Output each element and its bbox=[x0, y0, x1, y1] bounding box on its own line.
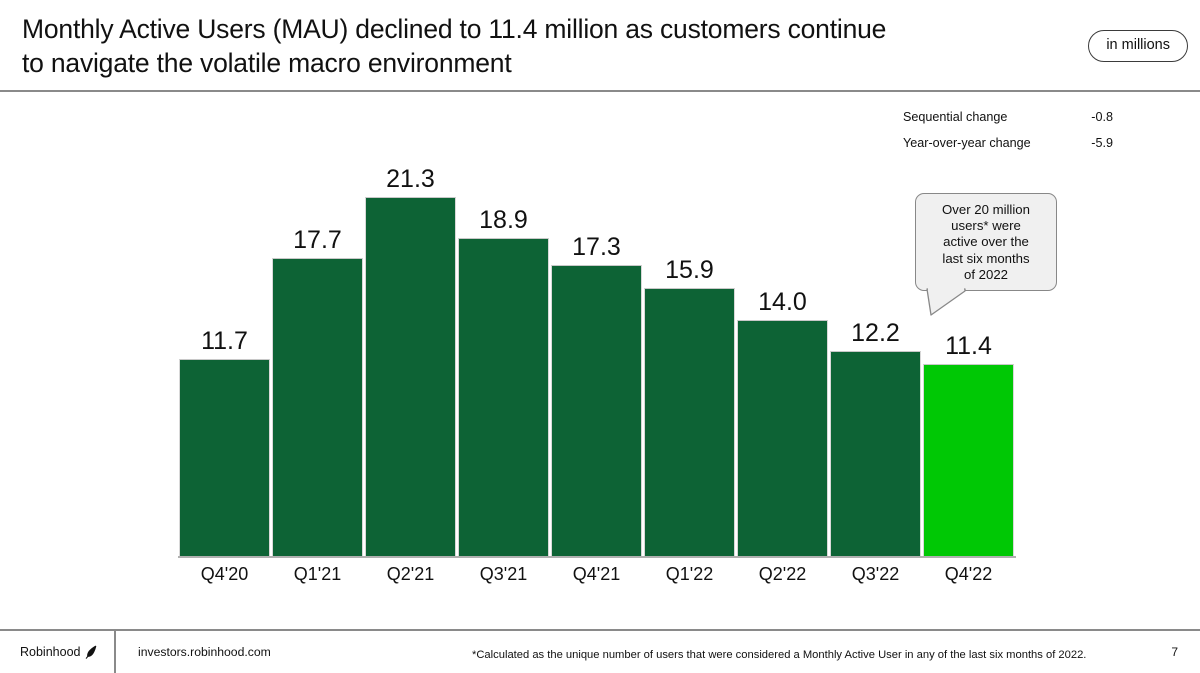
bar-slot: 21.3 bbox=[364, 150, 457, 557]
x-axis-label: Q2'21 bbox=[364, 562, 457, 586]
bar[interactable] bbox=[644, 288, 735, 557]
bar[interactable] bbox=[272, 258, 363, 557]
bar-chart: 11.717.721.318.917.315.914.012.211.4 bbox=[178, 150, 1015, 557]
page-title: Monthly Active Users (MAU) declined to 1… bbox=[22, 12, 1032, 80]
bar-value-label: 15.9 bbox=[643, 256, 736, 284]
footer-divider-vertical bbox=[114, 631, 116, 673]
bar-slot: 11.7 bbox=[178, 150, 271, 557]
bar[interactable] bbox=[923, 364, 1014, 557]
brand-name: Robinhood bbox=[20, 643, 80, 661]
investor-relations-url[interactable]: investors.robinhood.com bbox=[138, 644, 271, 661]
x-axis-label: Q1'22 bbox=[643, 562, 736, 586]
callout-text: Over 20 million users* were active over … bbox=[923, 202, 1049, 283]
bar-slot: 12.2 bbox=[829, 150, 922, 557]
bar[interactable] bbox=[737, 320, 828, 557]
bar[interactable] bbox=[179, 359, 270, 557]
bar-slot: 17.3 bbox=[550, 150, 643, 557]
page-number: 7 bbox=[1171, 644, 1178, 660]
bar[interactable] bbox=[830, 351, 921, 557]
metrics-panel: Sequential change -0.8 Year-over-year ch… bbox=[903, 104, 1133, 156]
bar-slot: 14.0 bbox=[736, 150, 829, 557]
callout-tail-icon bbox=[925, 289, 969, 317]
bar[interactable] bbox=[458, 238, 549, 557]
bar-value-label: 21.3 bbox=[364, 165, 457, 193]
feather-icon bbox=[85, 645, 97, 659]
bar[interactable] bbox=[551, 265, 642, 557]
callout-annotation: Over 20 million users* were active over … bbox=[915, 193, 1057, 291]
x-axis-label: Q4'20 bbox=[178, 562, 271, 586]
metric-row: Sequential change -0.8 bbox=[903, 104, 1133, 130]
x-axis-label: Q4'22 bbox=[922, 562, 1015, 586]
footer-divider-horizontal bbox=[0, 629, 1200, 631]
slide-header: Monthly Active Users (MAU) declined to 1… bbox=[0, 0, 1200, 91]
header-divider bbox=[0, 90, 1200, 92]
bar-slot: 17.7 bbox=[271, 150, 364, 557]
x-axis-label: Q4'21 bbox=[550, 562, 643, 586]
metric-value: -0.8 bbox=[1073, 104, 1113, 130]
bar-slot: 18.9 bbox=[457, 150, 550, 557]
units-badge: in millions bbox=[1088, 30, 1188, 62]
bar-value-label: 11.4 bbox=[922, 332, 1015, 360]
x-axis-labels: Q4'20Q1'21Q2'21Q3'21Q4'21Q1'22Q2'22Q3'22… bbox=[178, 562, 1015, 588]
bar-value-label: 18.9 bbox=[457, 206, 550, 234]
x-axis-label: Q1'21 bbox=[271, 562, 364, 586]
bar[interactable] bbox=[365, 197, 456, 557]
bar-value-label: 17.7 bbox=[271, 226, 364, 254]
x-axis-label: Q3'21 bbox=[457, 562, 550, 586]
bar-value-label: 17.3 bbox=[550, 233, 643, 261]
metric-value: -5.9 bbox=[1073, 130, 1113, 156]
x-axis-label: Q2'22 bbox=[736, 562, 829, 586]
metric-label: Sequential change bbox=[903, 104, 1007, 130]
bar-value-label: 11.7 bbox=[178, 327, 271, 355]
bar-value-label: 14.0 bbox=[736, 288, 829, 316]
brand-logo: Robinhood bbox=[20, 643, 97, 661]
x-axis-line bbox=[178, 556, 1016, 558]
bar-slot: 15.9 bbox=[643, 150, 736, 557]
x-axis-label: Q3'22 bbox=[829, 562, 922, 586]
bar-value-label: 12.2 bbox=[829, 319, 922, 347]
footnote-text: *Calculated as the unique number of user… bbox=[472, 647, 1086, 663]
